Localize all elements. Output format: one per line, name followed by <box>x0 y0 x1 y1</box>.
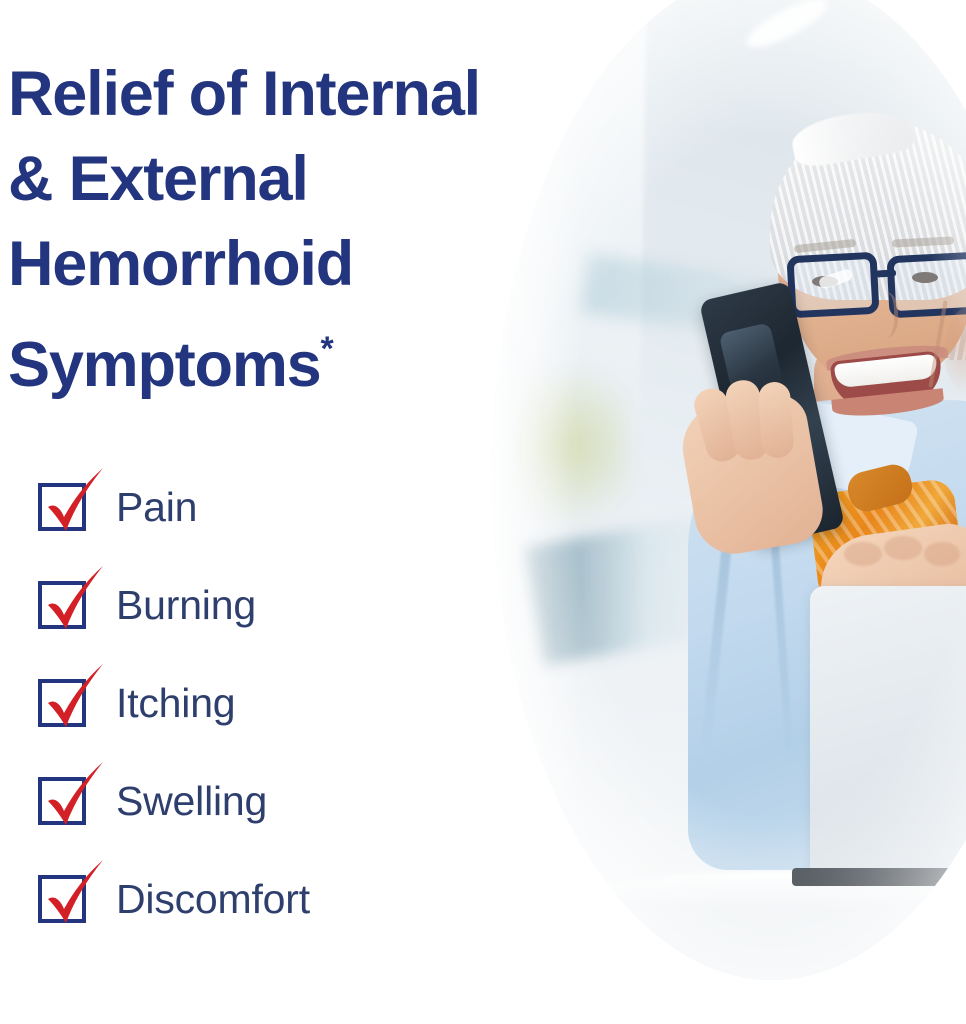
checked-checkbox-icon[interactable] <box>36 577 92 633</box>
red-checkmark-icon <box>34 659 108 735</box>
red-checkmark-icon <box>34 855 108 931</box>
checked-checkbox-icon[interactable] <box>36 675 92 731</box>
red-checkmark-icon <box>34 561 108 637</box>
lens-glint <box>818 268 854 290</box>
footnote-asterisk: * <box>320 330 333 368</box>
laptop-base <box>792 868 966 886</box>
headline-line-2: & External <box>8 144 308 214</box>
list-item-label: Burning <box>116 585 256 626</box>
list-item-label: Discomfort <box>116 879 310 920</box>
subject-teeth <box>834 354 938 389</box>
checked-checkbox-icon[interactable] <box>36 773 92 829</box>
list-item[interactable]: Swelling <box>36 752 506 850</box>
subject-finger <box>757 381 794 459</box>
subject-knuckle <box>884 536 922 560</box>
headline-line-3: Hemorrhoid <box>8 229 353 299</box>
laptop <box>810 586 966 878</box>
list-item[interactable]: Itching <box>36 654 506 752</box>
subject-knuckle <box>924 542 960 566</box>
symptom-checklist: Pain Burning Itching <box>36 458 506 948</box>
checked-checkbox-icon[interactable] <box>36 871 92 927</box>
page-title: Relief of Internal & External Hemorrhoid… <box>8 52 628 408</box>
checked-checkbox-icon[interactable] <box>36 479 92 535</box>
promo-banner: Relief of Internal & External Hemorrhoid… <box>0 0 966 1024</box>
list-item[interactable]: Discomfort <box>36 850 506 948</box>
subject-knuckle <box>844 542 882 566</box>
eyeglass-lens-left <box>786 252 879 319</box>
eyeglass-bridge <box>876 269 896 277</box>
list-item-label: Itching <box>116 683 235 724</box>
list-item[interactable]: Pain <box>36 458 506 556</box>
eyeglass-lens-right <box>886 252 966 319</box>
list-item-label: Swelling <box>116 781 267 822</box>
list-item[interactable]: Burning <box>36 556 506 654</box>
subject-nose <box>868 292 898 338</box>
red-checkmark-icon <box>34 463 108 539</box>
list-item-label: Pain <box>116 487 197 528</box>
headline-line-4: Symptoms <box>8 330 320 400</box>
red-checkmark-icon <box>34 757 108 833</box>
headline-line-1: Relief of Internal <box>8 59 480 129</box>
